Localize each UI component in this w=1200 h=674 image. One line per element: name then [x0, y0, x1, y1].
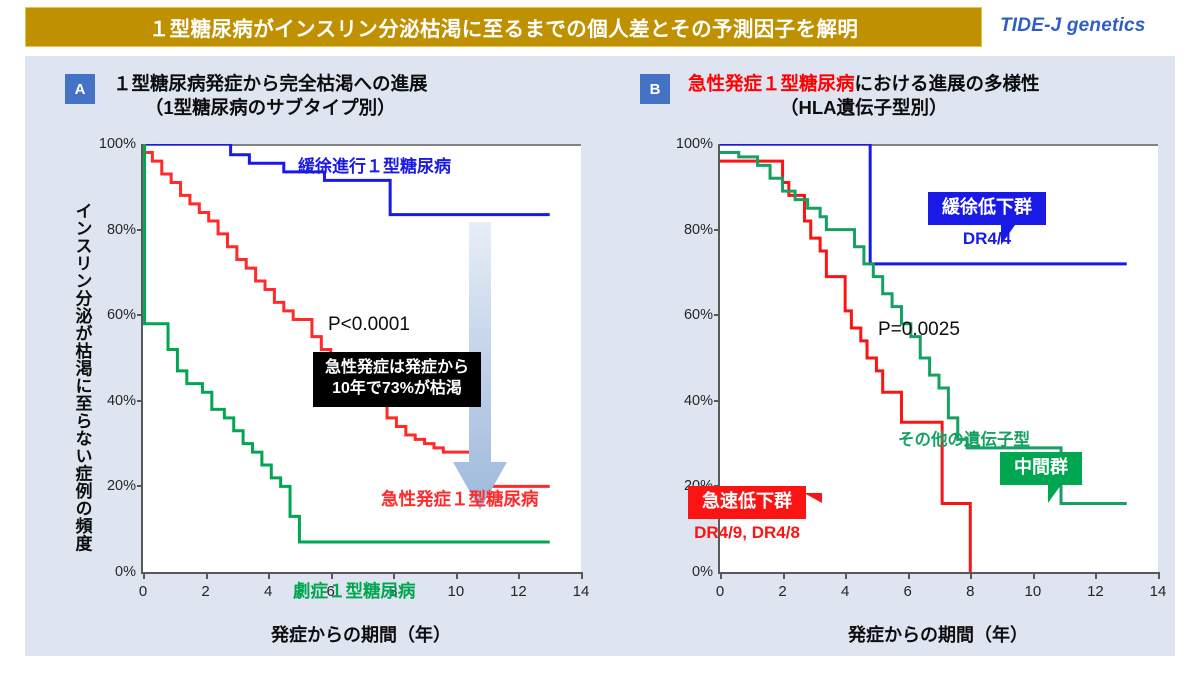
x-axis-tick-label: 0: [716, 583, 724, 600]
y-axis-tick-label: 60%: [107, 307, 136, 323]
y-axis-tick-mark: [137, 485, 143, 487]
chart-b-x-axis-title: 発症からの期間（年）: [718, 621, 1158, 647]
panel-b-title: 急性発症１型糖尿病における進展の多様性 （HLA遺伝子型別）: [688, 72, 1040, 120]
y-axis-tick-label: 80%: [684, 222, 713, 238]
y-axis-tick-label: 60%: [684, 307, 713, 323]
y-axis-tick-label: 40%: [684, 393, 713, 409]
y-axis-tick-mark: [137, 400, 143, 402]
x-axis-tick-label: 6: [904, 583, 912, 600]
chart-a-x-axis-title: 発症からの期間（年）: [141, 621, 581, 647]
chart-a-label-fulminant: 劇症１型糖尿病: [293, 578, 416, 603]
bubble-rapid-decline: 急速低下群: [688, 486, 806, 519]
y-axis-tick-label: 0%: [692, 564, 713, 580]
x-axis-tick-label: 2: [778, 583, 786, 600]
x-axis-tick-label: 12: [1087, 583, 1104, 600]
panel-a-title: １型糖尿病発症から完全枯渇への進展 （1型糖尿病のサブタイプ別）: [113, 72, 428, 120]
x-axis-tick-mark: [970, 572, 972, 579]
brand-logo: TIDE-J genetics: [1000, 15, 1146, 37]
y-axis-tick-label: 20%: [107, 478, 136, 494]
panel-b-title-rest: における進展の多様性: [855, 73, 1040, 94]
x-axis-tick-mark: [908, 572, 910, 579]
panel-a-title-line2: （1型糖尿病のサブタイプ別）: [113, 96, 428, 120]
bubble-rapid-decline-label: 急速低下群: [688, 486, 806, 519]
chart-b-callout-slow-decline: 緩徐低下群 DR4/4: [928, 192, 1046, 249]
panel-b-badge: B: [640, 74, 670, 104]
bubble-slow-decline: 緩徐低下群: [928, 192, 1046, 225]
bubble-tail-icon: [1001, 225, 1027, 245]
chart-b-label-other-genotypes: その他の遺伝子型: [898, 426, 1030, 450]
x-axis-tick-label: 4: [264, 583, 272, 600]
chart-b-pvalue: P=0.0025: [878, 319, 960, 341]
chart-b-callout-rapid-decline: 急速低下群 DR4/9, DR4/8: [688, 486, 806, 543]
x-axis-tick-mark: [456, 572, 458, 579]
y-axis-tick-mark: [714, 314, 720, 316]
bubble-slow-decline-label: 緩徐低下群: [928, 192, 1046, 225]
x-axis-tick-mark: [845, 572, 847, 579]
bubble-intermediate-label: 中間群: [1000, 452, 1082, 485]
x-axis-tick-mark: [143, 572, 145, 579]
chart-b: 0%20%40%60%80%100%02468101214 発症からの期間（年）…: [640, 134, 1185, 644]
chart-a-label-slow-progressive: 緩徐進行１型糖尿病: [298, 152, 451, 177]
x-axis-tick-mark: [518, 572, 520, 579]
y-axis-tick-mark: [137, 229, 143, 231]
x-axis-tick-label: 14: [573, 583, 590, 600]
x-axis-tick-mark: [206, 572, 208, 579]
x-axis-tick-label: 2: [201, 583, 209, 600]
bubble-intermediate: 中間群: [1000, 452, 1082, 485]
panel-a-title-line1: １型糖尿病発症から完全枯渇への進展: [113, 72, 428, 96]
x-axis-tick-label: 8: [966, 583, 974, 600]
x-axis-tick-label: 14: [1150, 583, 1167, 600]
x-axis-tick-label: 12: [510, 583, 527, 600]
bubble-tail-icon: [1048, 485, 1072, 503]
y-axis-tick-label: 100%: [99, 136, 136, 152]
x-axis-tick-mark: [1158, 572, 1160, 579]
chart-a-callout-box: 急性発症は発症から 10年で73%が枯渇: [313, 352, 481, 407]
y-axis-tick-label: 100%: [676, 136, 713, 152]
y-axis-tick-label: 40%: [107, 393, 136, 409]
y-axis-tick-mark: [137, 314, 143, 316]
slide-header: １型糖尿病がインスリン分泌枯渇に至るまでの個人差とその予測因子を解明 TIDE-…: [0, 0, 1200, 52]
panel-a-badge: A: [65, 74, 95, 104]
panel-b-title-line2: （HLA遺伝子型別）: [688, 96, 1040, 120]
x-axis-tick-mark: [268, 572, 270, 579]
chart-a-callout-line1: 急性発症は発症から: [325, 358, 469, 379]
panel-b-title-line1: 急性発症１型糖尿病における進展の多様性: [688, 72, 1040, 96]
chart-a-pvalue: P<0.0001: [328, 314, 410, 336]
slide-title: １型糖尿病がインスリン分泌枯渇に至るまでの個人差とその予測因子を解明: [149, 12, 859, 42]
x-axis-tick-mark: [720, 572, 722, 579]
x-axis-tick-label: 4: [841, 583, 849, 600]
chart-a-y-axis-title: インスリン分泌が枯渇に至らない症例の頻度: [69, 142, 95, 612]
chart-a-callout-line2: 10年で73%が枯渇: [325, 379, 469, 400]
x-axis-tick-mark: [783, 572, 785, 579]
chart-a-label-acute-onset: 急性発症１型糖尿病: [381, 486, 539, 511]
panel-b-title-red: 急性発症１型糖尿病: [688, 73, 855, 94]
y-axis-tick-mark: [714, 400, 720, 402]
panel-a-header: A １型糖尿病発症から完全枯渇への進展 （1型糖尿病のサブタイプ別）: [65, 72, 428, 120]
x-axis-tick-mark: [1033, 572, 1035, 579]
x-axis-tick-label: 10: [448, 583, 465, 600]
y-axis-tick-mark: [714, 229, 720, 231]
title-band: １型糖尿病がインスリン分泌枯渇に至るまでの個人差とその予測因子を解明: [25, 7, 982, 47]
y-axis-tick-label: 80%: [107, 222, 136, 238]
content-panel: A １型糖尿病発症から完全枯渇への進展 （1型糖尿病のサブタイプ別） B 急性発…: [25, 56, 1175, 656]
panel-b-header: B 急性発症１型糖尿病における進展の多様性 （HLA遺伝子型別）: [640, 72, 1040, 120]
bubble-tail-icon: [804, 493, 822, 512]
chart-b-sublabel-dr49-dr48: DR4/9, DR4/8: [688, 523, 806, 543]
chart-b-sublabel-dr44: DR4/4: [928, 229, 1046, 249]
x-axis-tick-label: 10: [1025, 583, 1042, 600]
chart-a: インスリン分泌が枯渇に至らない症例の頻度 0%20%40%60%80%100%0…: [63, 134, 608, 644]
slide-root: １型糖尿病がインスリン分泌枯渇に至るまでの個人差とその予測因子を解明 TIDE-…: [0, 0, 1200, 674]
y-axis-tick-label: 0%: [115, 564, 136, 580]
x-axis-tick-mark: [581, 572, 583, 579]
chart-b-callout-intermediate: 中間群: [1000, 452, 1082, 485]
x-axis-tick-mark: [1095, 572, 1097, 579]
x-axis-tick-label: 0: [139, 583, 147, 600]
